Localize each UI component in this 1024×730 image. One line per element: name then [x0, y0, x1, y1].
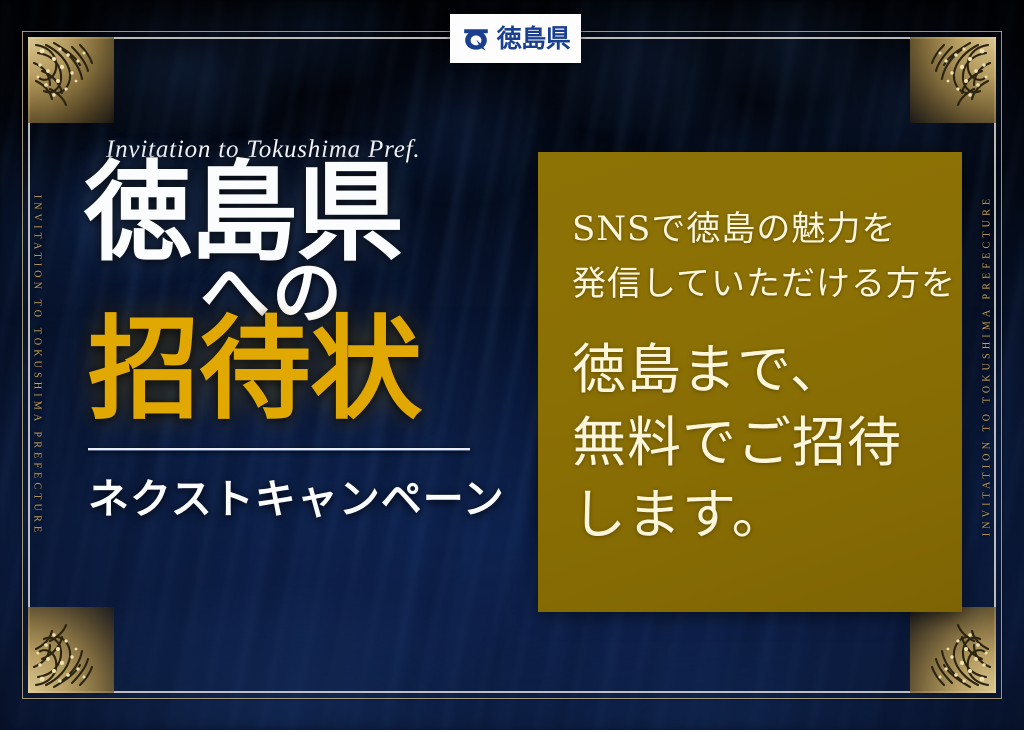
headline-block: Invitation to Tokushima Pref. 徳島県 への 招待状…: [84, 136, 496, 525]
logo-label: 徳島県: [497, 26, 571, 51]
tokushima-logo-badge[interactable]: 徳島県: [450, 14, 581, 63]
offer-small-line-2: 発信していただける方を: [572, 257, 962, 312]
headline-divider: [88, 448, 470, 451]
offer-small-line-1: SNSで徳島の魅力を: [572, 202, 962, 257]
offer-big-line-1: 徳島まで、: [572, 334, 962, 406]
tokushima-prefecture-mark-icon: [461, 24, 491, 54]
offer-big-line-3: します。: [572, 479, 962, 551]
offer-panel: SNSで徳島の魅力を 発信していただける方を 徳島まで、 無料でご招待 します。: [538, 152, 962, 612]
campaign-subtitle: ネクストキャンペーン: [88, 465, 496, 525]
invitation-poster: INVITATION TO TOKUSHIMA PREFECTURE INVIT…: [0, 0, 1024, 730]
offer-big-line-2: 無料でご招待: [572, 407, 962, 479]
headline-line-3: 招待状: [88, 314, 496, 426]
